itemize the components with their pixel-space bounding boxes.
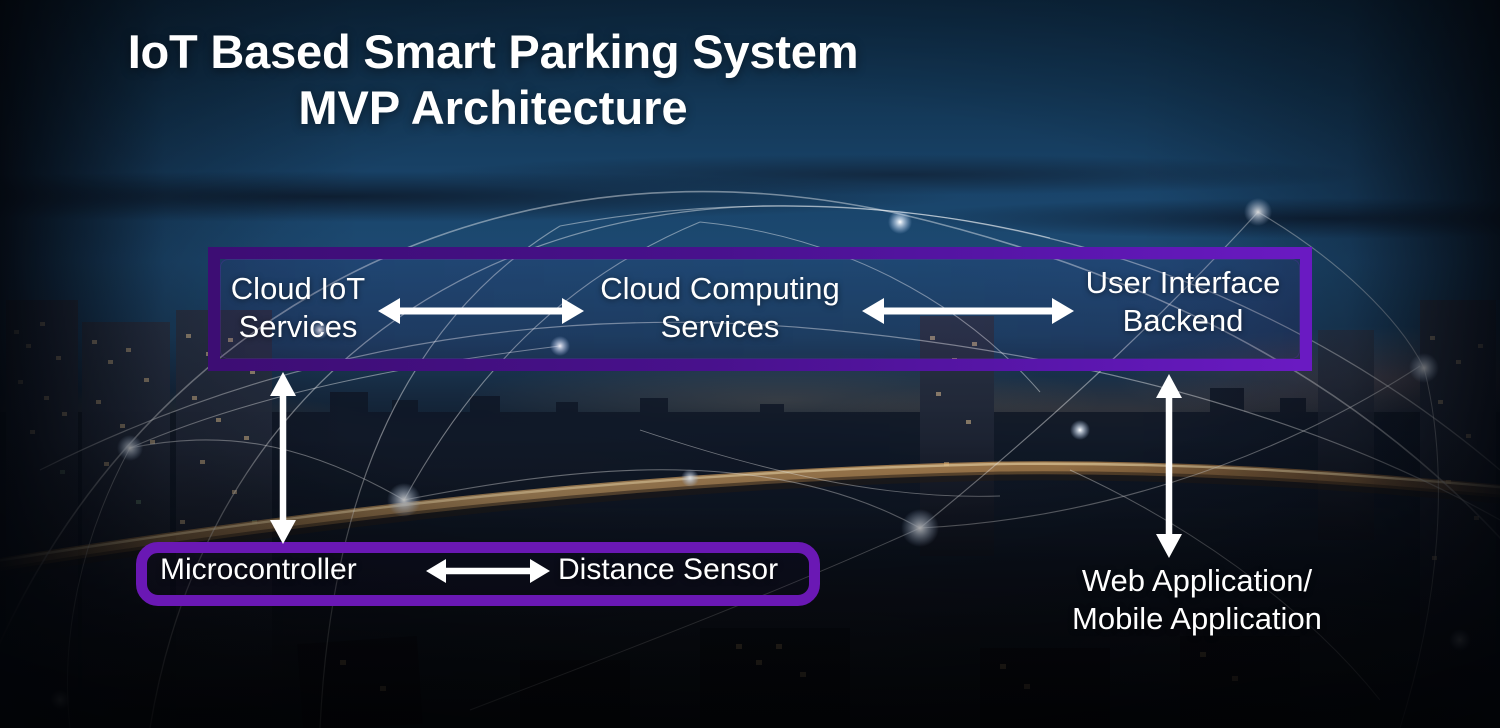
title-line-1: IoT Based Smart Parking System [58,24,928,79]
node-label-distance-sensor[interactable]: Distance Sensor [558,552,818,589]
node-label-cloud-iot-services[interactable]: Cloud IoT Services [198,270,398,346]
node-label-web-mobile-application[interactable]: Web Application/ Mobile Application [1022,562,1372,638]
slide-title: IoT Based Smart Parking System MVP Archi… [58,24,928,137]
arrow-cloud-iot-to-microcontroller[interactable] [264,372,302,544]
node-label-cloud-computing-services[interactable]: Cloud Computing Services [560,270,880,346]
arrow-cloud-computing-to-user-interface-backend[interactable] [862,292,1074,330]
arrow-microcontroller-to-distance-sensor[interactable] [426,552,550,590]
node-label-microcontroller[interactable]: Microcontroller [160,552,410,589]
slide-canvas: IoT Based Smart Parking System MVP Archi… [0,0,1500,728]
title-line-2: MVP Architecture [58,79,928,136]
arrow-cloud-iot-to-cloud-computing[interactable] [378,292,584,330]
node-label-user-interface-backend[interactable]: User Interface Backend [1052,264,1314,340]
arrow-user-interface-backend-to-web-application[interactable] [1150,374,1188,558]
